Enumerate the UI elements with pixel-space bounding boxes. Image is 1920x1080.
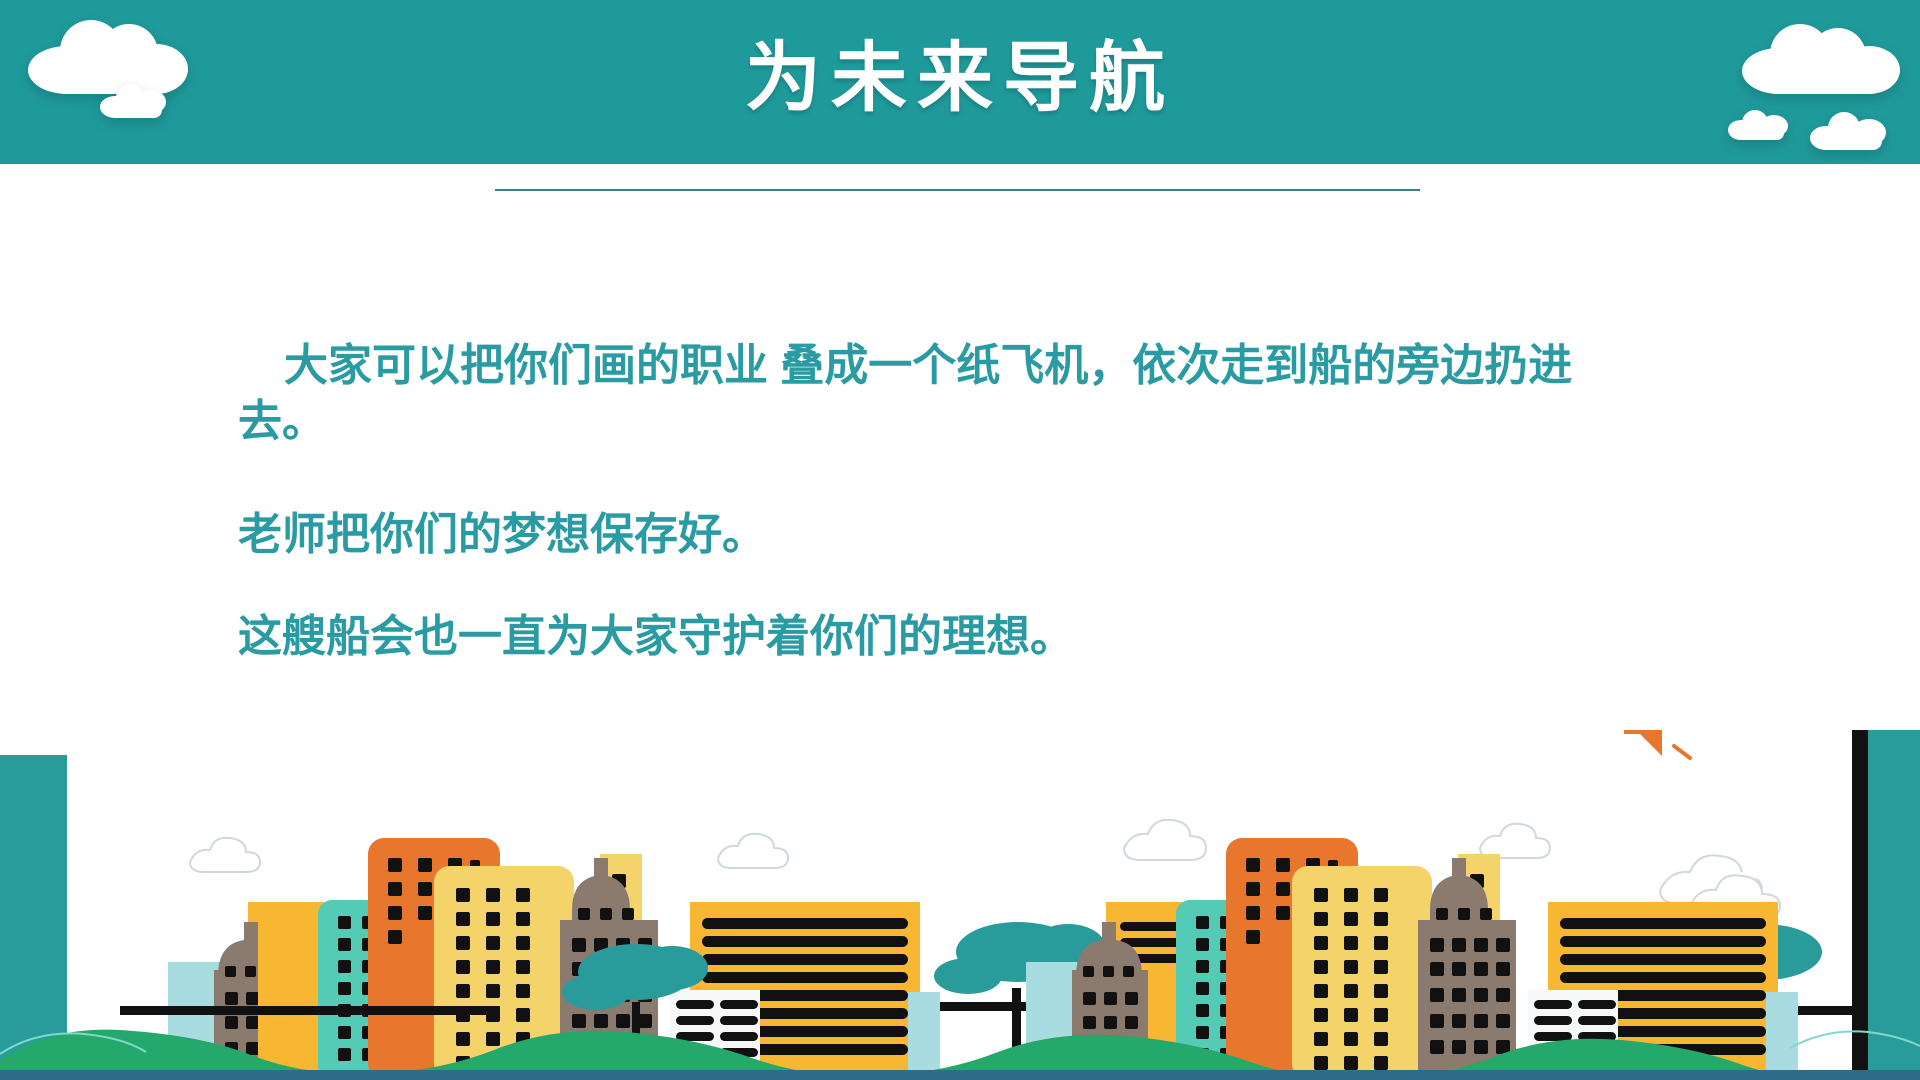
right-teal-panel <box>1868 730 1920 1080</box>
title-divider <box>495 189 1420 191</box>
city-skyline-illustration <box>0 730 1920 1080</box>
road-line-1 <box>120 1006 500 1015</box>
header-banner: 为未来导航 <box>0 0 1920 164</box>
slide-root: 为未来导航 大家可以把你们画的职业 叠成一个纸飞机，依次走到船的旁边扔进去。 老… <box>0 0 1920 1080</box>
paragraph-2: 老师把你们的梦想保存好。 <box>238 507 1658 563</box>
paragraph-1-text: 大家可以把你们画的职业 叠成一个纸飞机，依次走到船的旁边扔进去。 <box>238 341 1572 446</box>
slide-title: 为未来导航 <box>0 0 1920 164</box>
left-teal-panel <box>0 755 67 1080</box>
building-lightblue-b <box>908 992 940 1080</box>
right-black-bar <box>1852 730 1868 1080</box>
paragraph-3: 这艘船会也一直为大家守护着你们的理想。 <box>238 609 1658 665</box>
body-text-block: 大家可以把你们画的职业 叠成一个纸飞机，依次走到船的旁边扔进去。 老师把你们的梦… <box>238 338 1658 665</box>
paragraph-1: 大家可以把你们画的职业 叠成一个纸飞机，依次走到船的旁边扔进去。 <box>238 338 1658 451</box>
bottom-strip <box>0 1070 1920 1080</box>
